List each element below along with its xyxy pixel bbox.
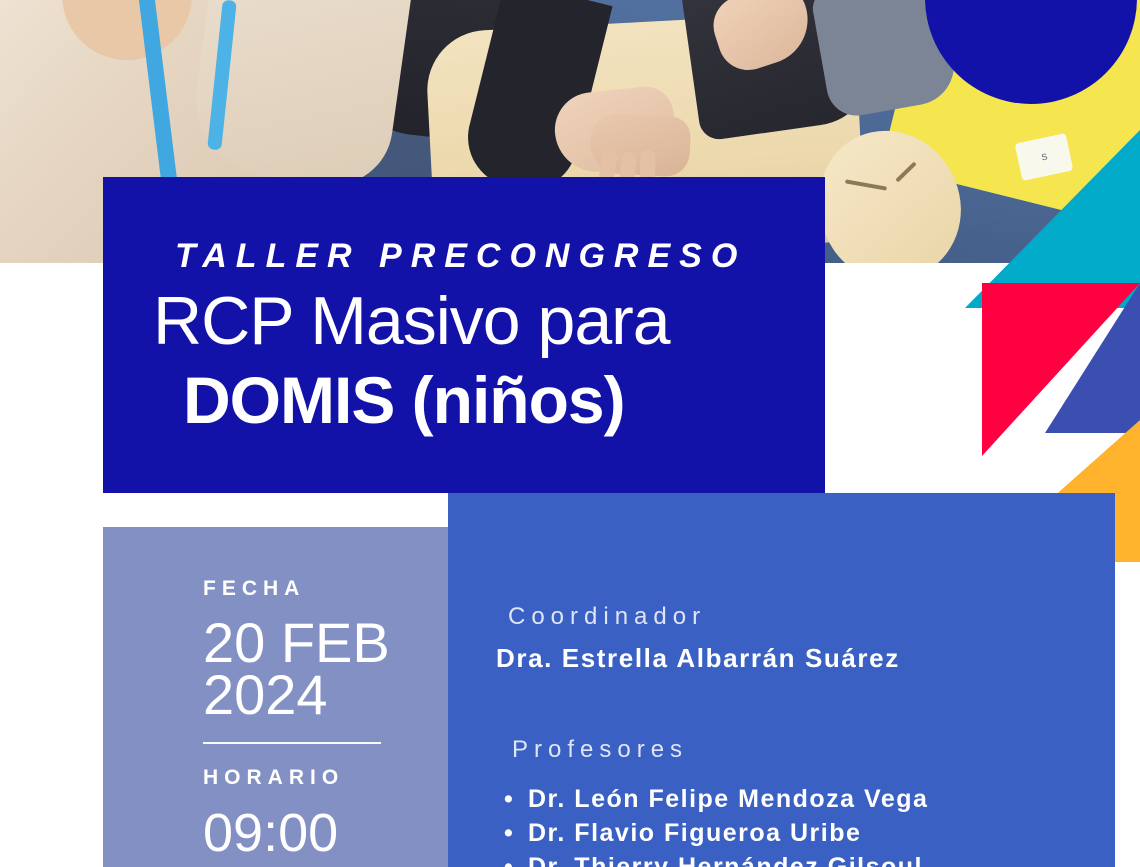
- date-value: 20 FEB 2024: [203, 617, 403, 720]
- professor-name: Dr. León Felipe Mendoza Vega: [528, 785, 928, 813]
- list-item: • Dr. Flavio Figueroa Uribe: [496, 816, 1095, 850]
- staff-content: Coordinador Dra. Estrella Albarrán Suáre…: [496, 603, 1095, 867]
- date-label: FECHA: [203, 577, 403, 601]
- professors-role-label: Profesores: [512, 736, 1095, 764]
- time-value: 09:00: [203, 806, 403, 860]
- coordinator-role-label: Coordinador: [508, 603, 1095, 631]
- staff-panel: Coordinador Dra. Estrella Albarrán Suáre…: [448, 493, 1115, 867]
- poster-canvas: S TALLER PRECONGRESO RCP Masivo para DOM…: [0, 0, 1140, 867]
- decor-white-band: [1115, 562, 1140, 867]
- divider-rule: [203, 742, 381, 744]
- bullet-icon: •: [504, 850, 514, 867]
- date-time-panel: FECHA 20 FEB 2024 HORARIO 09:00: [103, 527, 448, 867]
- list-item: • Dr. León Felipe Mendoza Vega: [496, 782, 1095, 816]
- coordinator-name: Dra. Estrella Albarrán Suárez: [496, 643, 1095, 674]
- page-title-line-1: RCP Masivo para: [153, 282, 670, 360]
- time-label: HORARIO: [203, 766, 403, 790]
- list-item: • Dr. Thierry Hernández Gilsoul: [496, 850, 1095, 867]
- page-title-line-2: DOMIS (niños): [183, 362, 625, 438]
- kicker-text: TALLER PRECONGRESO: [175, 237, 746, 276]
- bullet-icon: •: [504, 782, 514, 816]
- bullet-icon: •: [504, 816, 514, 850]
- professor-name: Dr. Thierry Hernández Gilsoul: [528, 853, 923, 867]
- date-time-content: FECHA 20 FEB 2024 HORARIO 09:00: [203, 577, 403, 860]
- professor-name: Dr. Flavio Figueroa Uribe: [528, 819, 861, 847]
- title-block: TALLER PRECONGRESO RCP Masivo para DOMIS…: [103, 177, 825, 493]
- professors-list: • Dr. León Felipe Mendoza Vega • Dr. Fla…: [496, 782, 1095, 867]
